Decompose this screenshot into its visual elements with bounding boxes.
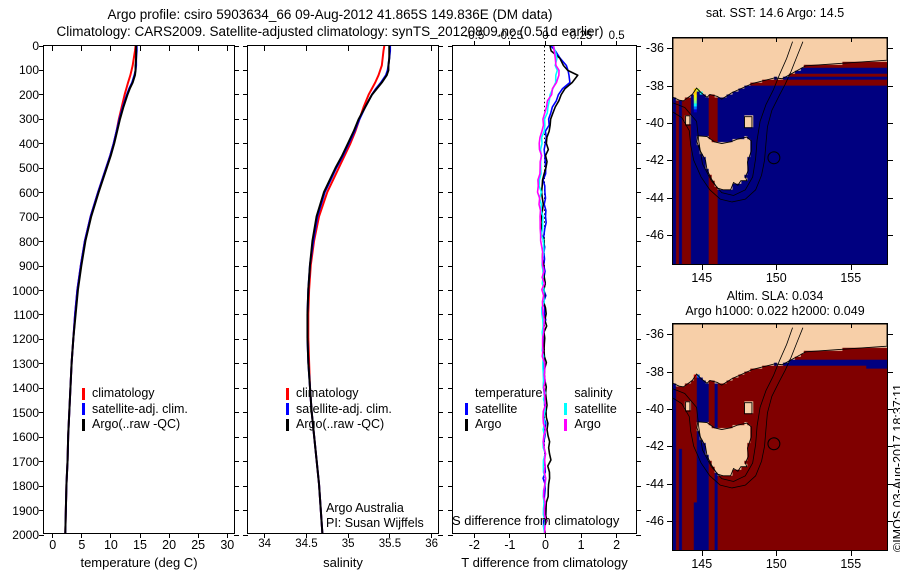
map-x-tick-label: 150	[766, 557, 787, 571]
salinity-profile-plot	[248, 46, 438, 533]
legend-group-label: salinity	[564, 386, 616, 402]
depth-tick-label: 1000	[12, 284, 39, 298]
map-y-tick-label: -38	[646, 79, 664, 93]
map-y-tick-label: -36	[646, 41, 664, 55]
sla-title-line-1: Altim. SLA: 0.034	[660, 289, 890, 304]
credit-line-1: Argo Australia	[326, 501, 424, 516]
x-tick-label-top: -0.25	[497, 30, 523, 42]
sla-title-line-2: Argo h1000: 0.022 h2000: 0.049	[660, 304, 890, 319]
map-x-tick-label: 145	[691, 271, 712, 285]
figure-root: Argo profile: csiro 5903634_66 09-Aug-20…	[0, 0, 900, 580]
depth-tick-label: 0	[32, 39, 39, 53]
map-y-tick-label: -38	[646, 365, 664, 379]
legend-item: satellite-adj. clim.	[82, 402, 188, 418]
depth-tick-label: 1400	[12, 381, 39, 395]
legend-item: satellite-adj. clim.	[286, 402, 392, 418]
legend-label: Argo(..raw -QC)	[92, 417, 180, 433]
depth-tick-label: 1700	[12, 455, 39, 469]
x-tick-label: 34.5	[295, 538, 317, 550]
difference-axis-title-top: S difference from climatology	[452, 513, 637, 528]
depth-tick-label: 1200	[12, 332, 39, 346]
depth-tick-label: 1900	[12, 504, 39, 518]
sst-map-title: sat. SST: 14.6 Argo: 14.5	[660, 6, 890, 21]
sla-map-overlay	[673, 324, 887, 550]
sla-map[interactable]	[672, 323, 888, 551]
map-y-tick-label: -46	[646, 514, 664, 528]
x-tick-label: 2	[613, 538, 620, 552]
temperature-axis-title: temperature (deg C)	[44, 555, 234, 570]
salinity-legend: climatology satellite-adj. clim. Argo(..…	[286, 386, 392, 433]
map-x-tick-label: 155	[840, 557, 861, 571]
x-tick-label: 25	[191, 538, 205, 552]
legend-item: Argo(..raw -QC)	[82, 417, 188, 433]
sst-map[interactable]	[672, 37, 888, 265]
depth-tick-label: 900	[19, 259, 39, 273]
depth-tick-label: 400	[19, 137, 39, 151]
depth-tick-label: 1300	[12, 357, 39, 371]
temperature-profile-panel[interactable]: 0100200300400500600700800900100011001200…	[43, 45, 235, 534]
depth-tick-label: 2000	[12, 528, 39, 542]
x-tick-label-top: -0.5	[464, 30, 484, 42]
x-tick-label: 1	[578, 538, 585, 552]
title-line-2: Climatology: CARS2009. Satellite-adjuste…	[0, 23, 660, 40]
difference-legend-salinity-col: salinity satellite Argo	[564, 386, 616, 433]
x-tick-label-top: 0.5	[609, 30, 625, 42]
map-y-tick-label: -36	[646, 327, 664, 341]
sst-map-overlay	[673, 38, 887, 264]
x-tick-label: 0	[542, 538, 549, 552]
temperature-legend: climatology satellite-adj. clim. Argo(..…	[82, 386, 188, 433]
depth-tick-label: 1800	[12, 479, 39, 493]
imos-copyright: ©IMOS 03-Aug-2017 18:37:11	[891, 384, 900, 552]
legend-item: satellite	[465, 402, 542, 418]
credit-line-2: PI: Susan Wijffels	[326, 516, 424, 531]
map-x-tick-label: 150	[766, 271, 787, 285]
depth-tick-label: 600	[19, 186, 39, 200]
legend-swatch-s-satellite	[564, 403, 567, 415]
map-y-tick-label: -40	[646, 402, 664, 416]
legend-item: climatology	[286, 386, 392, 402]
x-tick-label: -1	[504, 538, 515, 552]
sla-map-title: Altim. SLA: 0.034 Argo h1000: 0.022 h200…	[660, 289, 890, 319]
map-x-tick-label: 155	[840, 271, 861, 285]
x-tick-label: -2	[469, 538, 480, 552]
difference-axis-title-bottom: T difference from climatology	[453, 555, 636, 570]
salinity-axis-title: salinity	[248, 555, 438, 570]
x-tick-label: 35	[342, 538, 355, 550]
legend-label: satellite-adj. clim.	[296, 402, 392, 418]
legend-swatch-t-argo	[465, 419, 468, 431]
depth-tick-label: 300	[19, 112, 39, 126]
x-tick-label: 34	[258, 538, 271, 550]
legend-item: Argo	[465, 417, 542, 433]
map-y-tick-label: -44	[646, 191, 664, 205]
legend-label: satellite	[475, 402, 517, 418]
legend-swatch-s-argo	[564, 419, 567, 431]
depth-tick-label: 1100	[13, 308, 39, 322]
legend-label: Argo	[574, 417, 600, 433]
map-y-tick-label: -44	[646, 477, 664, 491]
difference-legend: temperature satellite Argo salinity sate…	[465, 386, 617, 433]
temperature-profile-plot	[44, 46, 234, 533]
depth-tick-label: 700	[19, 210, 39, 224]
map-y-tick-label: -40	[646, 116, 664, 130]
legend-swatch-argo	[286, 419, 289, 431]
difference-legend-temperature-col: temperature satellite Argo	[465, 386, 542, 433]
x-tick-label: 0	[49, 538, 56, 552]
legend-label: Argo	[475, 417, 501, 433]
map-y-tick-label: -42	[646, 439, 664, 453]
legend-group-label: temperature	[465, 386, 542, 402]
x-tick-label-top: 0.25	[570, 30, 592, 42]
legend-label: satellite-adj. clim.	[92, 402, 188, 418]
legend-item: climatology	[82, 386, 188, 402]
legend-item: satellite	[564, 402, 616, 418]
legend-swatch-climatology	[286, 388, 289, 400]
legend-label: satellite	[574, 402, 616, 418]
depth-tick-label: 800	[19, 235, 39, 249]
depth-tick-label: 1600	[12, 430, 39, 444]
figure-title: Argo profile: csiro 5903634_66 09-Aug-20…	[0, 6, 660, 40]
depth-tick-label: 100	[19, 63, 39, 77]
x-tick-label: 36	[425, 538, 438, 550]
legend-swatch-argo	[82, 419, 85, 431]
depth-tick-label: 1500	[12, 406, 39, 420]
map-y-tick-label: -42	[646, 153, 664, 167]
legend-swatch-climatology	[82, 388, 85, 400]
x-tick-label: 20	[162, 538, 176, 552]
x-tick-label: 35.5	[379, 538, 401, 550]
map-x-tick-label: 145	[691, 557, 712, 571]
legend-swatch-t-satellite	[465, 403, 468, 415]
argo-australia-credit: Argo Australia PI: Susan Wijffels	[326, 501, 424, 531]
depth-tick-label: 200	[19, 88, 39, 102]
x-tick-label: 10	[104, 538, 118, 552]
legend-label: climatology	[92, 386, 155, 402]
x-tick-label: 15	[133, 538, 147, 552]
x-tick-label: 5	[78, 538, 85, 552]
title-line-1: Argo profile: csiro 5903634_66 09-Aug-20…	[0, 6, 660, 23]
depth-tick-label: 500	[19, 161, 39, 175]
legend-label: climatology	[296, 386, 359, 402]
difference-profile-plot	[453, 46, 636, 533]
legend-item: Argo(..raw -QC)	[286, 417, 392, 433]
legend-label: Argo(..raw -QC)	[296, 417, 384, 433]
difference-profile-panel[interactable]: -2-1012-0.5-0.2500.250.5 T difference fr…	[452, 45, 637, 534]
x-tick-label-top: 0	[542, 30, 548, 42]
x-tick-label: 30	[220, 538, 234, 552]
salinity-profile-panel[interactable]: 3434.53535.536 salinity climatology sate…	[247, 45, 439, 534]
legend-swatch-satellite	[286, 403, 289, 415]
legend-swatch-satellite	[82, 403, 85, 415]
map-y-tick-label: -46	[646, 228, 664, 242]
legend-item: Argo	[564, 417, 616, 433]
